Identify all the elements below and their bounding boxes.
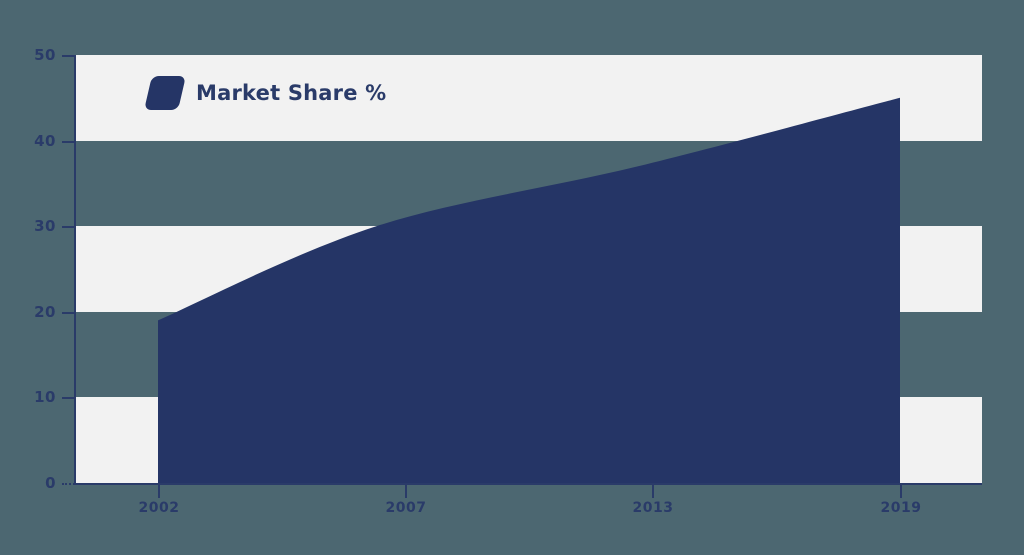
y-tick-label-40: 40: [0, 132, 56, 150]
y-tick-label-10: 10: [0, 388, 56, 406]
chart-legend[interactable]: Market Share %: [148, 76, 386, 110]
y-tick-10: [62, 397, 75, 399]
y-tick-0: [62, 483, 75, 485]
area-chart: 50 40 30 20 10 0 2002 2007 2013 2019 Mar…: [0, 0, 1024, 555]
y-tick-30: [62, 226, 75, 228]
y-tick-label-30: 30: [0, 217, 56, 235]
x-tick-2019: [900, 485, 902, 498]
x-tick-label-2007: 2007: [361, 500, 451, 516]
y-tick-20: [62, 312, 75, 314]
legend-swatch-icon: [144, 76, 186, 110]
y-tick-50: [62, 55, 75, 57]
x-tick-2002: [158, 485, 160, 498]
area-path-market-share: [158, 98, 900, 483]
y-tick-40: [62, 141, 75, 143]
y-tick-label-50: 50: [0, 46, 56, 64]
x-tick-2007: [405, 485, 407, 498]
x-tick-2013: [652, 485, 654, 498]
y-tick-label-20: 20: [0, 303, 56, 321]
x-tick-label-2019: 2019: [856, 500, 946, 516]
y-axis-line: [74, 55, 76, 484]
legend-label-market-share: Market Share %: [196, 81, 386, 105]
y-tick-label-0: 0: [0, 474, 56, 492]
x-axis-line: [75, 483, 982, 485]
x-tick-label-2002: 2002: [114, 500, 204, 516]
x-tick-label-2013: 2013: [608, 500, 698, 516]
